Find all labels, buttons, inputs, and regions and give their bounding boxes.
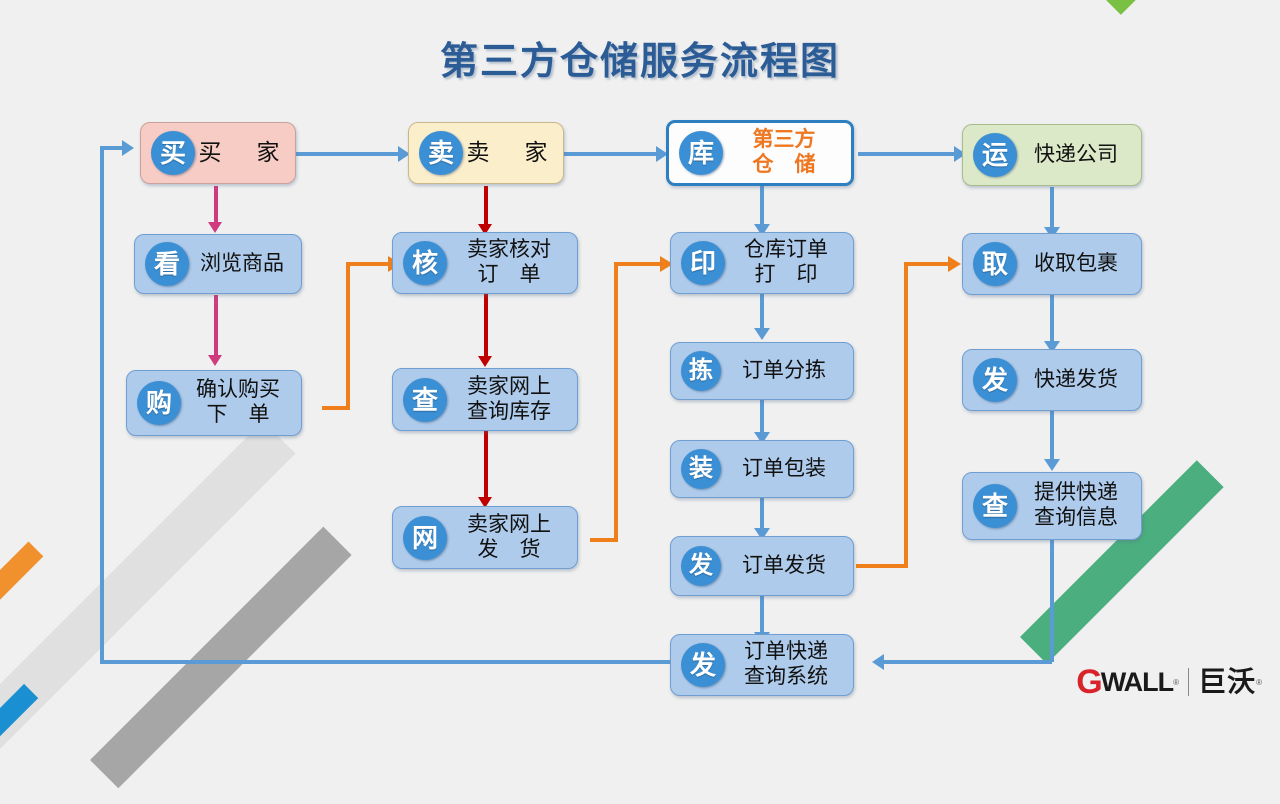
badge-icon-purchase: 购 — [137, 381, 181, 425]
node-seller-label: 卖 家 — [463, 139, 563, 166]
connector-courier-to-pickup — [1050, 187, 1054, 229]
node-order-packing[interactable]: 装 订单包装 — [670, 440, 854, 498]
connector-tracking-to-buyer-seg2 — [100, 146, 104, 662]
node-order-sorting-label: 订单分拣 — [721, 359, 853, 384]
page-title: 第三方仓储服务流程图 — [0, 30, 1280, 85]
logo-chinese-name: 巨沃 — [1198, 668, 1256, 696]
badge-icon-sell: 卖 — [419, 131, 463, 175]
connector-info-to-tracking-seg1 — [1050, 540, 1054, 662]
badge-icon-collect: 取 — [973, 242, 1017, 286]
connector-buyer-to-seller — [296, 152, 400, 156]
node-third-party-warehouse-label: 第三方 仓 储 — [723, 128, 851, 178]
node-courier-company-label: 快递公司 — [1017, 143, 1141, 168]
badge-icon-provide-info: 查 — [973, 484, 1017, 528]
logo-divider — [1188, 668, 1189, 696]
connector-verify-to-stock — [484, 294, 488, 358]
arrowhead-print-to-sort — [754, 328, 770, 340]
logo-trademark-1: ® — [1173, 678, 1179, 687]
flowchart-canvas: 第三方仓储服务流程图 — [0, 0, 1280, 720]
logo-trademark-2: ® — [1256, 678, 1262, 687]
node-seller-online-ship-label: 卖家网上 发 货 — [447, 513, 577, 563]
node-seller-online-ship[interactable]: 网 卖家网上 发 货 — [392, 506, 578, 569]
connector-sort-to-pack — [760, 400, 764, 434]
node-seller-verify-order-label: 卖家核对 订 单 — [447, 238, 577, 288]
connector-print-to-sort — [760, 294, 764, 330]
arrowhead-info-to-tracking — [872, 654, 884, 670]
decor-stripe-green-top-right — [1094, 0, 1280, 15]
node-confirm-purchase[interactable]: 购 确认购买 下 单 — [126, 370, 302, 436]
connector-seller-to-warehouse — [564, 152, 664, 156]
node-order-dispatch-label: 订单发货 — [721, 554, 853, 579]
brand-logo: G WALL ® 巨沃 ® — [1076, 662, 1262, 702]
arrowhead-dispatch-to-pickup — [948, 256, 961, 272]
badge-icon-tracking: 发 — [681, 643, 725, 687]
logo-g-mark: G — [1076, 665, 1100, 699]
arrowhead-browse-to-purchase — [208, 355, 222, 366]
decor-stripe-gray-bottom-left — [90, 527, 352, 789]
node-courier-shipping[interactable]: 发 快递发货 — [962, 349, 1142, 411]
badge-icon-sorting: 拣 — [681, 351, 721, 391]
node-confirm-purchase-label: 确认购买 下 单 — [181, 378, 301, 428]
badge-icon-packing: 装 — [681, 449, 721, 489]
badge-icon-dispatch: 发 — [681, 546, 721, 586]
node-seller[interactable]: 卖 卖 家 — [408, 122, 564, 184]
decor-stripe-lightgray-bottom-left — [0, 421, 296, 751]
arrowhead-buyer-to-browse — [208, 222, 222, 233]
node-order-tracking-system-label: 订单快递 查询系统 — [725, 640, 853, 690]
badge-icon-warehouse: 库 — [679, 131, 723, 175]
connector-dispatch-to-tracking — [760, 596, 764, 634]
node-warehouse-order-print[interactable]: 印 仓库订单 打 印 — [670, 232, 854, 294]
connector-sellership-to-print-seg2 — [614, 262, 618, 542]
badge-icon-courier-ship: 发 — [973, 358, 1017, 402]
badge-icon-browse: 看 — [145, 242, 189, 286]
node-third-party-warehouse[interactable]: 库 第三方 仓 储 — [666, 120, 854, 186]
node-buyer-label: 买 家 — [195, 139, 295, 166]
logo-wall-text: WALL — [1101, 669, 1173, 696]
connector-pack-to-dispatch — [760, 498, 764, 530]
connector-sellership-to-print-seg3 — [614, 262, 664, 266]
node-browse-products-label: 浏览商品 — [189, 252, 301, 277]
arrowhead-tracking-to-buyer — [122, 140, 134, 156]
node-order-packing-label: 订单包装 — [721, 457, 853, 482]
badge-icon-online-ship: 网 — [403, 516, 447, 560]
node-collect-parcel-label: 收取包裹 — [1017, 252, 1141, 277]
badge-icon-check-stock: 查 — [403, 378, 447, 422]
connector-warehouse-to-print — [760, 186, 764, 226]
connector-courier-ship-to-info — [1050, 411, 1054, 461]
node-courier-shipping-label: 快递发货 — [1017, 368, 1141, 393]
node-order-sorting[interactable]: 拣 订单分拣 — [670, 342, 854, 400]
node-provide-tracking-info[interactable]: 查 提供快递 查询信息 — [962, 472, 1142, 540]
connector-tracking-to-buyer-seg1 — [100, 660, 670, 664]
node-browse-products[interactable]: 看 浏览商品 — [134, 234, 302, 294]
badge-icon-verify: 核 — [403, 241, 447, 285]
connector-browse-to-purchase — [214, 295, 218, 357]
node-courier-company[interactable]: 运 快递公司 — [962, 124, 1142, 186]
connector-purchase-to-verify-seg2 — [346, 262, 350, 410]
node-order-dispatch[interactable]: 发 订单发货 — [670, 536, 854, 596]
connector-buyer-to-browse — [214, 186, 218, 224]
arrowhead-verify-to-stock — [478, 356, 492, 367]
badge-icon-transport: 运 — [973, 133, 1017, 177]
connector-dispatch-to-pickup-seg2 — [904, 262, 908, 568]
connector-info-to-tracking-seg2 — [884, 660, 1052, 664]
connector-dispatch-to-pickup-seg3 — [904, 262, 952, 266]
node-seller-verify-order[interactable]: 核 卖家核对 订 单 — [392, 232, 578, 294]
node-order-tracking-system[interactable]: 发 订单快递 查询系统 — [670, 634, 854, 696]
node-buyer[interactable]: 买 买 家 — [140, 122, 296, 184]
node-seller-check-stock[interactable]: 查 卖家网上 查询库存 — [392, 368, 578, 431]
connector-warehouse-to-courier — [858, 152, 962, 156]
badge-icon-buy: 买 — [151, 131, 195, 175]
connector-purchase-to-verify-seg3 — [346, 262, 392, 266]
node-warehouse-order-print-label: 仓库订单 打 印 — [725, 238, 853, 288]
node-seller-check-stock-label: 卖家网上 查询库存 — [447, 375, 577, 425]
connector-stock-to-ship — [484, 431, 488, 499]
node-provide-tracking-info-label: 提供快递 查询信息 — [1017, 481, 1141, 531]
connector-dispatch-to-pickup-seg1 — [856, 564, 908, 568]
arrowhead-courier-ship-to-info — [1044, 459, 1060, 471]
connector-seller-to-verify — [484, 186, 488, 226]
decor-stripe-blue-bottom-left — [0, 684, 38, 804]
badge-icon-print: 印 — [681, 241, 725, 285]
node-collect-parcel[interactable]: 取 收取包裹 — [962, 233, 1142, 295]
connector-pickup-to-courier-ship — [1050, 295, 1054, 343]
decor-stripe-orange-bottom-left — [0, 542, 43, 705]
